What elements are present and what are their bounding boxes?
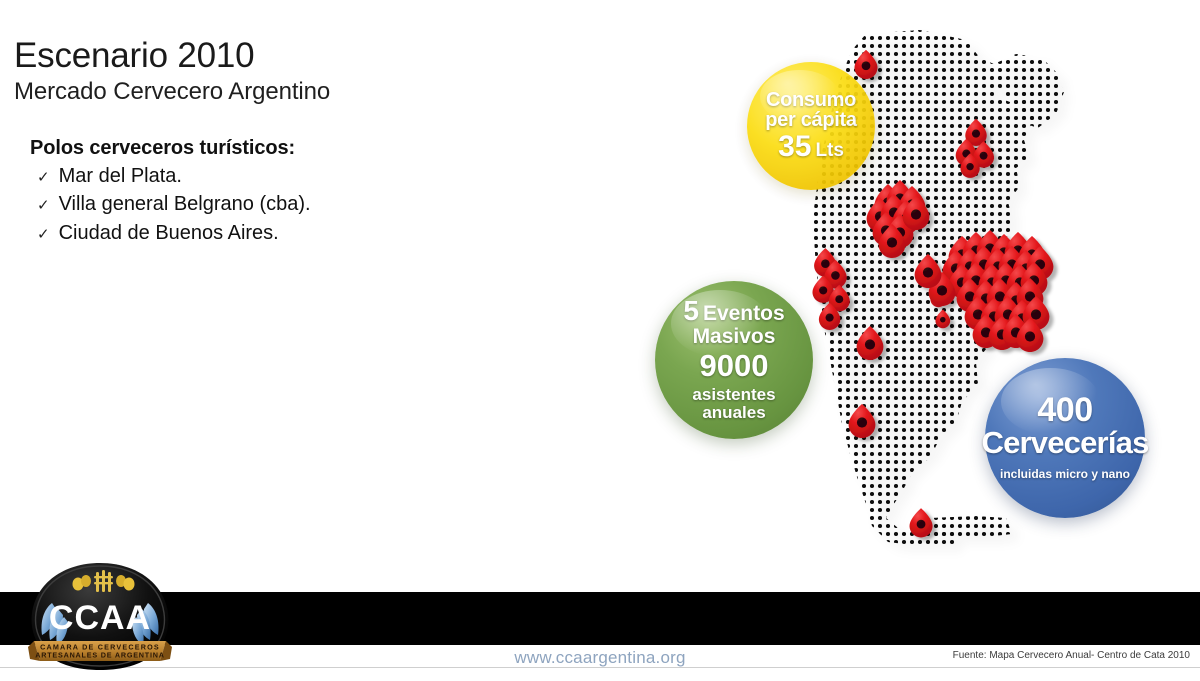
list-item-label: Ciudad de Buenos Aires.	[59, 219, 279, 247]
list-item: ✓ Ciudad de Buenos Aires.	[30, 219, 500, 247]
consumption-line1: Consumo	[766, 90, 856, 110]
bullet-list: ✓ Mar del Plata. ✓ Villa general Belgran…	[30, 162, 500, 247]
logo-banner-line2: ARTESANALES DE ARGENTINA	[35, 651, 165, 660]
list-item-label: Villa general Belgrano (cba).	[59, 190, 311, 218]
check-icon: ✓	[37, 227, 50, 242]
ccaa-logo: CCAA CAMARA DE CERVECEROS ARTESANALES DE…	[18, 557, 182, 675]
stat-bubble-breweries: 400 Cervecerías incluidas micro y nano	[985, 358, 1145, 518]
consumption-value-row: 35Lts	[778, 132, 844, 162]
source-note: Fuente: Mapa Cervecero Anual- Centro de …	[953, 650, 1190, 661]
stat-bubble-events: 5Eventos Masivos 9000 asistentes anuales	[655, 281, 813, 439]
list-item-label: Mar del Plata.	[59, 162, 182, 190]
page-subtitle: Mercado Cervecero Argentino	[14, 79, 534, 105]
title-block: Escenario 2010 Mercado Cervecero Argenti…	[14, 38, 534, 105]
consumption-value: 35	[778, 130, 811, 163]
list-item: ✓ Villa general Belgrano (cba).	[30, 190, 500, 218]
logo-acronym: CCAA	[49, 599, 151, 637]
events-attendees: 9000	[700, 347, 769, 386]
events-label2: Masivos	[693, 326, 776, 347]
breweries-note: incluidas micro y nano	[1000, 467, 1130, 481]
bullet-heading: Polos cerveceros turísticos:	[30, 137, 500, 160]
check-icon: ✓	[37, 170, 50, 185]
bullet-block: Polos cerveceros turísticos: ✓ Mar del P…	[30, 137, 500, 247]
stat-bubble-consumption: Consumo per cápita 35Lts	[747, 62, 875, 190]
events-attendees-label1: asistentes	[692, 386, 775, 405]
breweries-count: 400	[1037, 394, 1092, 427]
events-attendees-label2: anuales	[702, 404, 765, 423]
list-item: ✓ Mar del Plata.	[30, 162, 500, 190]
page-title: Escenario 2010	[14, 38, 534, 75]
consumption-line2: per cápita	[765, 110, 856, 130]
slide-canvas: Escenario 2010 Mercado Cervecero Argenti…	[0, 0, 1200, 681]
consumption-unit: Lts	[815, 140, 844, 161]
events-label: Eventos	[703, 302, 785, 325]
breweries-label: Cervecerías	[982, 427, 1149, 458]
check-icon: ✓	[37, 198, 50, 213]
events-count-row: 5Eventos	[683, 297, 784, 325]
events-count: 5	[683, 295, 699, 326]
